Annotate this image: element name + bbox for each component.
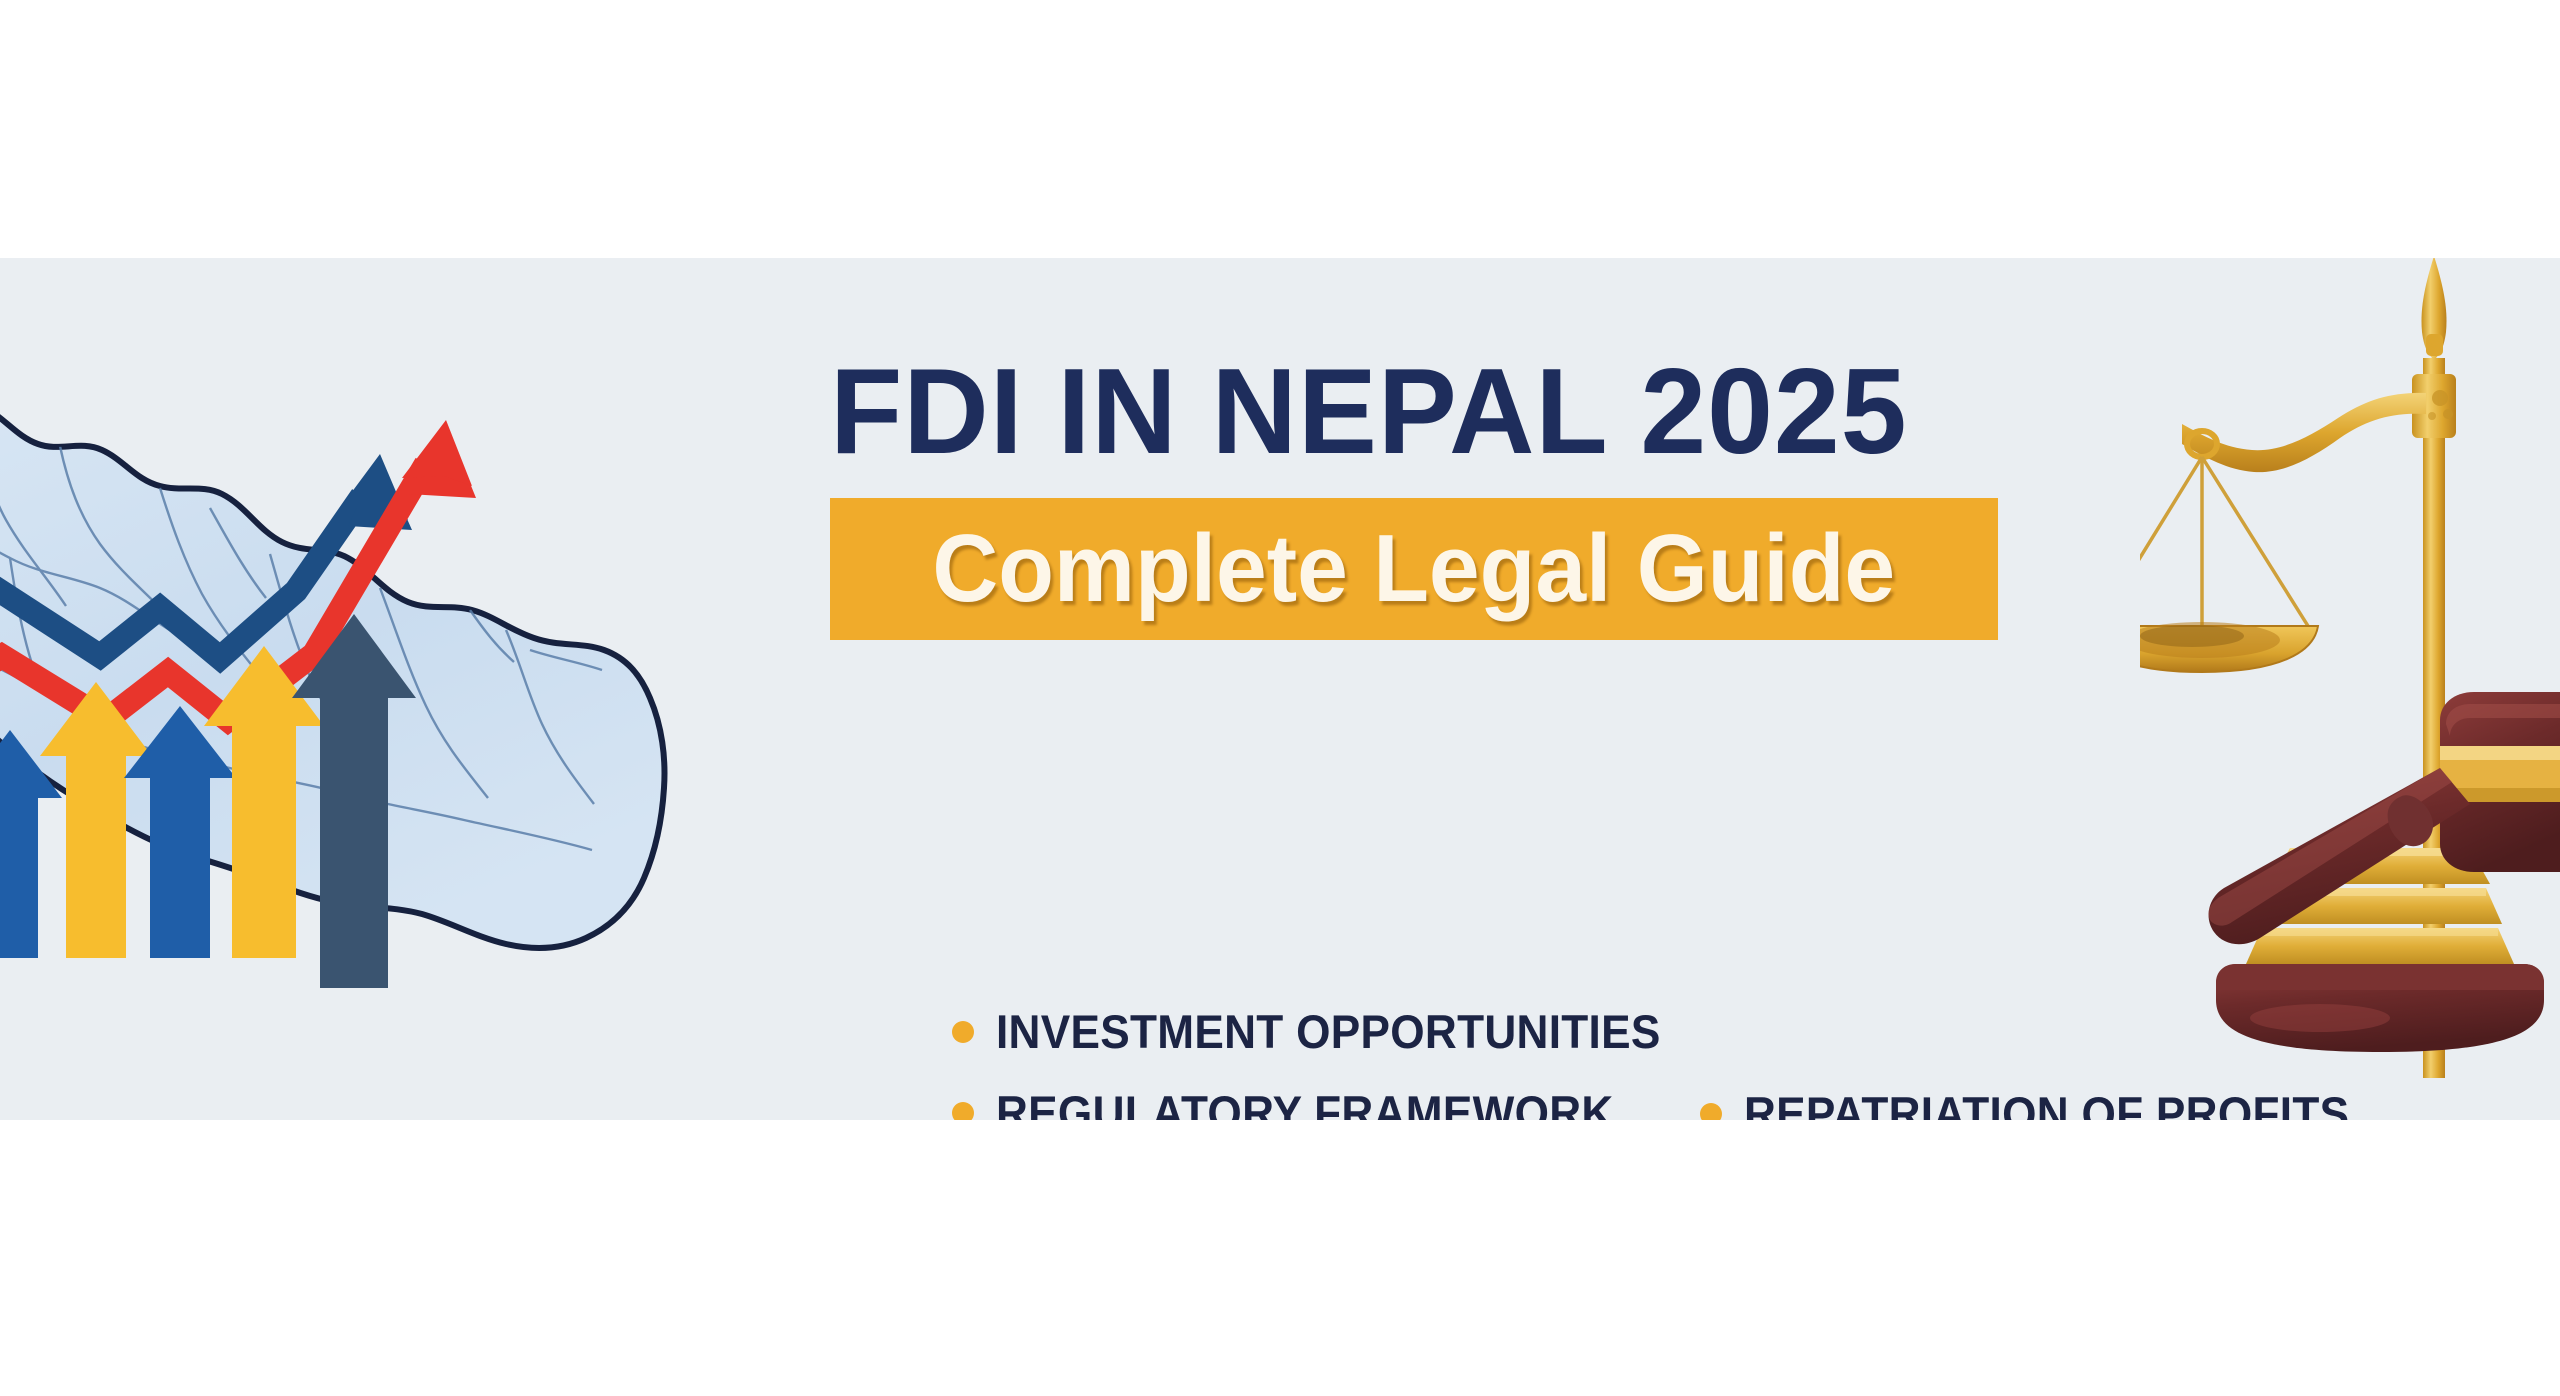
- gavel-base: [2216, 964, 2544, 1052]
- feature-list-left: INVESTMENT OPPORTUNITIES REGULATORY FRAM…: [952, 1004, 1703, 1120]
- list-item: REGULATORY FRAMEWORK: [952, 1085, 1703, 1120]
- bullet-dot-icon: [1700, 1103, 1722, 1121]
- nepal-map-growth-arrows-graphic: [0, 258, 710, 1088]
- page-subtitle: Complete Legal Guide: [933, 514, 1896, 624]
- bullet-dot-icon: [952, 1102, 974, 1121]
- bullet-dot-icon: [952, 1021, 974, 1043]
- list-item-label: INVESTMENT OPPORTUNITIES: [996, 1004, 1661, 1059]
- gavel-head: [2440, 692, 2560, 872]
- subtitle-highlight-bar: Complete Legal Guide: [830, 498, 1998, 640]
- gavel-icon: [2208, 692, 2560, 1052]
- list-item: INVESTMENT OPPORTUNITIES: [952, 1004, 1703, 1059]
- scale-pan: [2140, 622, 2318, 672]
- scale-chains: [2140, 457, 2308, 626]
- list-item-label: REGULATORY FRAMEWORK: [996, 1085, 1614, 1120]
- fdi-nepal-banner: FDI IN NEPAL 2025 Complete Legal Guide I…: [0, 258, 2560, 1120]
- scales-of-justice-and-gavel-graphic: [2140, 258, 2560, 1108]
- title-block: FDI IN NEPAL 2025 Complete Legal Guide: [830, 350, 2010, 640]
- page-title: FDI IN NEPAL 2025: [830, 350, 1975, 472]
- scale-beam: [2182, 393, 2426, 472]
